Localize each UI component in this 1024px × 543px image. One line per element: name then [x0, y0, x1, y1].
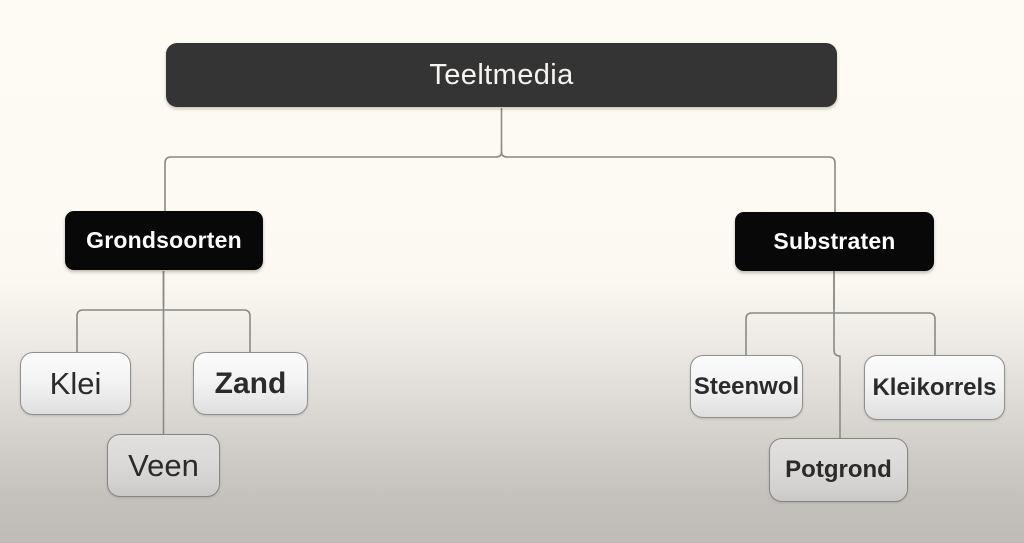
node-zand[interactable]: Zand	[193, 352, 308, 415]
node-grondsoorten[interactable]: Grondsoorten	[65, 211, 263, 270]
node-potgrond-label: Potgrond	[785, 456, 892, 484]
node-grondsoorten-label: Grondsoorten	[86, 227, 242, 254]
node-steenwol[interactable]: Steenwol	[690, 355, 803, 418]
node-kleikorrels[interactable]: Kleikorrels	[864, 355, 1005, 420]
node-substraten-label: Substraten	[773, 228, 895, 255]
connector-grondsoorten-bus	[77, 310, 250, 352]
node-teeltmedia-label: Teeltmedia	[429, 59, 573, 92]
node-kleikorrels-label: Kleikorrels	[872, 374, 996, 402]
node-zand-label: Zand	[215, 367, 287, 401]
node-potgrond[interactable]: Potgrond	[769, 438, 908, 502]
connector-root-bus	[165, 152, 835, 212]
node-veen[interactable]: Veen	[107, 434, 220, 497]
connector-substraten-bus	[746, 313, 935, 355]
node-veen-label: Veen	[128, 448, 199, 484]
node-substraten[interactable]: Substraten	[735, 212, 934, 271]
diagram-canvas: Teeltmedia Grondsoorten Substraten Klei …	[0, 0, 1024, 543]
node-klei-label: Klei	[50, 366, 102, 402]
node-steenwol-label: Steenwol	[694, 373, 799, 401]
connector-substraten-potgrond	[834, 271, 840, 438]
node-teeltmedia[interactable]: Teeltmedia	[166, 43, 837, 107]
node-klei[interactable]: Klei	[20, 352, 131, 415]
